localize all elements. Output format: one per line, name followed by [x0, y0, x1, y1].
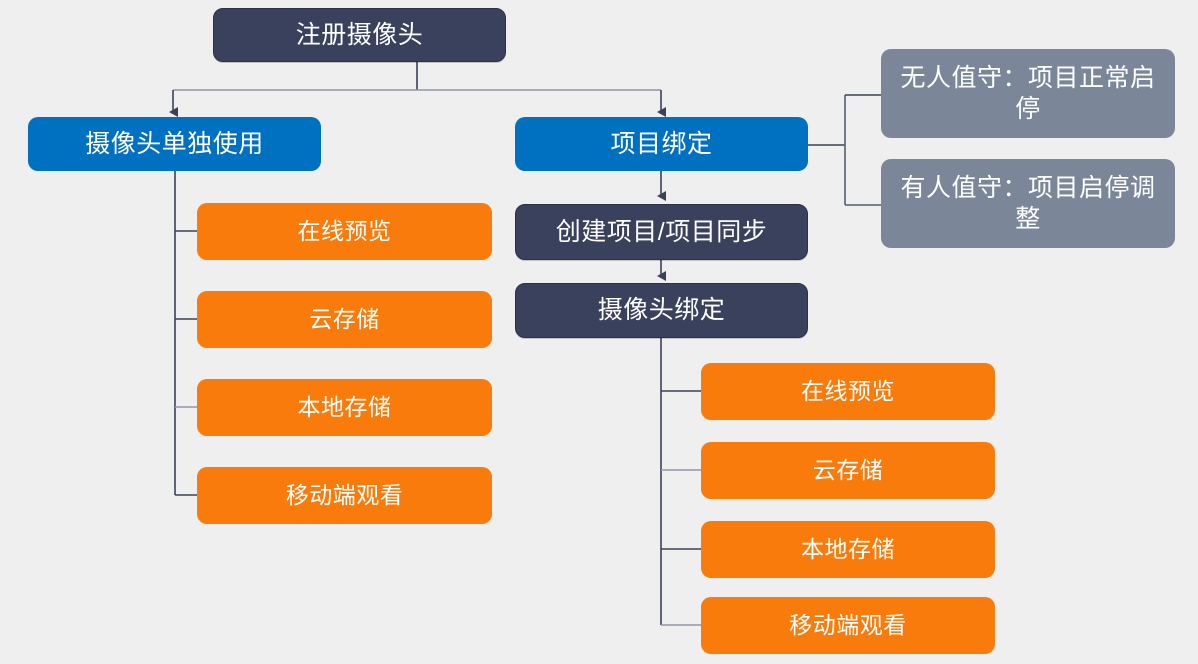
- node-label: 有人值守：项目启停调整: [891, 173, 1165, 234]
- right-feature-mobile-viewing[interactable]: 移动端观看: [701, 597, 995, 654]
- node-register-camera[interactable]: 注册摄像头: [213, 8, 506, 62]
- left-feature-cloud-storage[interactable]: 云存储: [197, 291, 492, 348]
- flowchart-canvas: 注册摄像头 摄像头单独使用 项目绑定 无人值守：项目正常启停 有人值守：项目启停…: [0, 0, 1198, 664]
- right-feature-local-storage[interactable]: 本地存储: [701, 521, 995, 578]
- node-label: 无人值守：项目正常启停: [891, 63, 1165, 124]
- node-label: 移动端观看: [286, 481, 404, 509]
- node-attended[interactable]: 有人值守：项目启停调整: [881, 159, 1175, 248]
- node-label: 创建项目/项目同步: [556, 217, 767, 248]
- node-label: 本地存储: [298, 393, 392, 421]
- node-label: 摄像头单独使用: [85, 129, 264, 160]
- left-feature-online-preview[interactable]: 在线预览: [197, 203, 492, 260]
- right-feature-online-preview[interactable]: 在线预览: [701, 363, 995, 420]
- right-feature-cloud-storage[interactable]: 云存储: [701, 442, 995, 499]
- node-label: 在线预览: [801, 377, 895, 405]
- node-camera-standalone[interactable]: 摄像头单独使用: [28, 117, 321, 171]
- node-label: 在线预览: [298, 217, 392, 245]
- node-label: 移动端观看: [789, 611, 907, 639]
- node-create-sync-project[interactable]: 创建项目/项目同步: [515, 204, 808, 260]
- left-feature-local-storage[interactable]: 本地存储: [197, 379, 492, 436]
- left-feature-mobile-viewing[interactable]: 移动端观看: [197, 467, 492, 524]
- node-label: 云存储: [309, 305, 380, 333]
- node-unattended[interactable]: 无人值守：项目正常启停: [881, 49, 1175, 138]
- node-label: 项目绑定: [610, 129, 712, 160]
- node-label: 摄像头绑定: [598, 295, 726, 326]
- node-project-binding[interactable]: 项目绑定: [515, 117, 808, 171]
- node-bind-camera[interactable]: 摄像头绑定: [515, 283, 808, 338]
- node-label: 云存储: [813, 456, 884, 484]
- node-label: 本地存储: [801, 535, 895, 563]
- node-label: 注册摄像头: [296, 20, 424, 51]
